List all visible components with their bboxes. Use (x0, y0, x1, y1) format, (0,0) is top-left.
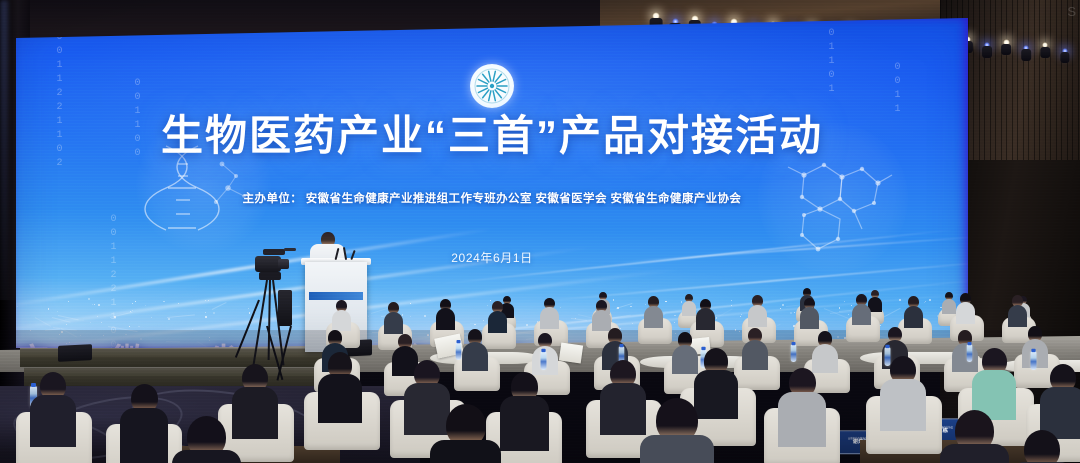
attendee-body (778, 392, 826, 447)
network-node (925, 301, 926, 302)
network-node (30, 330, 31, 331)
water-bottle (1031, 351, 1037, 370)
attendee-body (232, 387, 278, 439)
radial-burst-svg (470, 64, 514, 108)
conference-paper (559, 343, 583, 364)
attendee-body (682, 301, 696, 317)
water-bottle (541, 351, 547, 370)
stage-light (1042, 42, 1048, 48)
attendee-head (1024, 430, 1060, 463)
attendee-body (600, 383, 646, 435)
attendee-body (488, 311, 507, 333)
network-node (135, 301, 136, 302)
bottle-cap (1031, 349, 1035, 352)
attendee-body (812, 344, 838, 373)
attendee-body (696, 308, 715, 330)
bottle-cap (968, 342, 972, 345)
network-node (92, 304, 93, 305)
attendee-body (540, 307, 559, 329)
stage-monitor (58, 344, 92, 362)
bottle-cap (620, 344, 624, 347)
attendee-body (462, 342, 488, 371)
water-bottle (967, 344, 973, 362)
network-node (98, 304, 100, 306)
light-housing (1060, 52, 1069, 63)
network-node (94, 304, 95, 305)
network-node (924, 302, 925, 303)
network-node (490, 300, 491, 301)
network-node (145, 305, 146, 306)
network-node (487, 305, 488, 306)
watermark: S (1067, 4, 1076, 19)
network-node (731, 300, 732, 301)
light-housing (1002, 44, 1012, 56)
camera-microphone (284, 248, 296, 251)
stage-light (1023, 45, 1029, 51)
network-node (794, 312, 795, 313)
network-node (213, 312, 215, 314)
network-node (132, 303, 133, 304)
network-node (665, 301, 667, 303)
network-node (90, 322, 91, 323)
attendee-body (800, 307, 819, 329)
stage-light (652, 12, 660, 20)
bottle-cap (792, 342, 796, 345)
camera-hood (263, 249, 285, 255)
bottle-cap (885, 345, 889, 348)
attendee-body (942, 299, 956, 315)
bottle-cap (457, 340, 461, 343)
attendee-body (1008, 305, 1027, 327)
network-node (790, 312, 792, 314)
network-node (68, 301, 69, 302)
attendee-body (852, 304, 871, 326)
attendee-body (436, 308, 455, 330)
network-node (929, 299, 931, 301)
network-node (674, 315, 676, 317)
bottle-cap (31, 383, 36, 387)
attendee-body (672, 345, 698, 374)
network-node (101, 322, 102, 323)
radial-burst-logo (470, 64, 514, 108)
attendee-body (694, 370, 738, 419)
led-stage-screen: 00112211020011000011221100011010011 生物医药… (16, 18, 968, 348)
binary-column: 0011 (892, 62, 902, 118)
network-node (88, 298, 89, 299)
bottle-cap (701, 347, 705, 350)
network-node (410, 316, 411, 317)
attendee-body (332, 310, 351, 332)
event-organizers: 主办单位： 安徽省生命健康产业推进组工作专班办公室 安徽省医学会 安徽省生命健康… (16, 190, 968, 206)
attendee-body (904, 306, 923, 328)
stage-light (984, 42, 990, 48)
stage-light (1062, 48, 1068, 54)
network-node (61, 331, 63, 333)
attendee-body (644, 306, 663, 328)
attendee-body (318, 374, 362, 423)
bottle-cap (541, 349, 545, 352)
network-node (129, 326, 130, 327)
light-housing (1041, 47, 1050, 58)
attendee-body (880, 379, 926, 431)
water-bottle (456, 342, 462, 360)
attendee-body (172, 450, 241, 463)
network-node (151, 317, 152, 318)
attendee-body (748, 305, 767, 327)
left-wall-light (0, 0, 8, 320)
water-bottle (885, 347, 891, 366)
attendee-body (30, 395, 76, 447)
network-node (424, 315, 426, 317)
event-title: 生物医药产业“三首”产品对接活动 (16, 114, 968, 159)
stage-light (691, 15, 699, 23)
attendee-body (742, 340, 768, 369)
attendee-body (940, 444, 1009, 463)
speaker-cabinet (278, 290, 292, 326)
podium-accent-band (309, 292, 363, 300)
attendee-body (500, 396, 549, 451)
attendee-body (956, 302, 975, 324)
network-node (138, 326, 139, 327)
attendee-body (120, 408, 168, 463)
binary-column: 01101 (826, 28, 836, 98)
light-housing (1021, 49, 1031, 60)
water-bottle (791, 344, 797, 362)
light-housing (982, 46, 992, 58)
attendee-body (404, 383, 450, 435)
camera-lens (278, 259, 289, 269)
network-node (739, 331, 740, 332)
attendee-body (952, 343, 978, 372)
network-node (681, 301, 683, 303)
stage-light (1003, 39, 1009, 45)
network-node (630, 306, 631, 307)
tripod-head (259, 272, 281, 280)
network-node (645, 304, 646, 305)
attendee-body (640, 435, 714, 463)
conference-photo: 00112211020011000011221100011010011 生物医药… (0, 0, 1080, 463)
network-node (168, 318, 170, 320)
attendee-body (384, 312, 403, 334)
attendee-body (430, 440, 501, 463)
attendee-body (592, 310, 611, 332)
event-date: 2024年6月1日 (16, 249, 968, 266)
binary-column: 0011221100 (108, 214, 118, 348)
